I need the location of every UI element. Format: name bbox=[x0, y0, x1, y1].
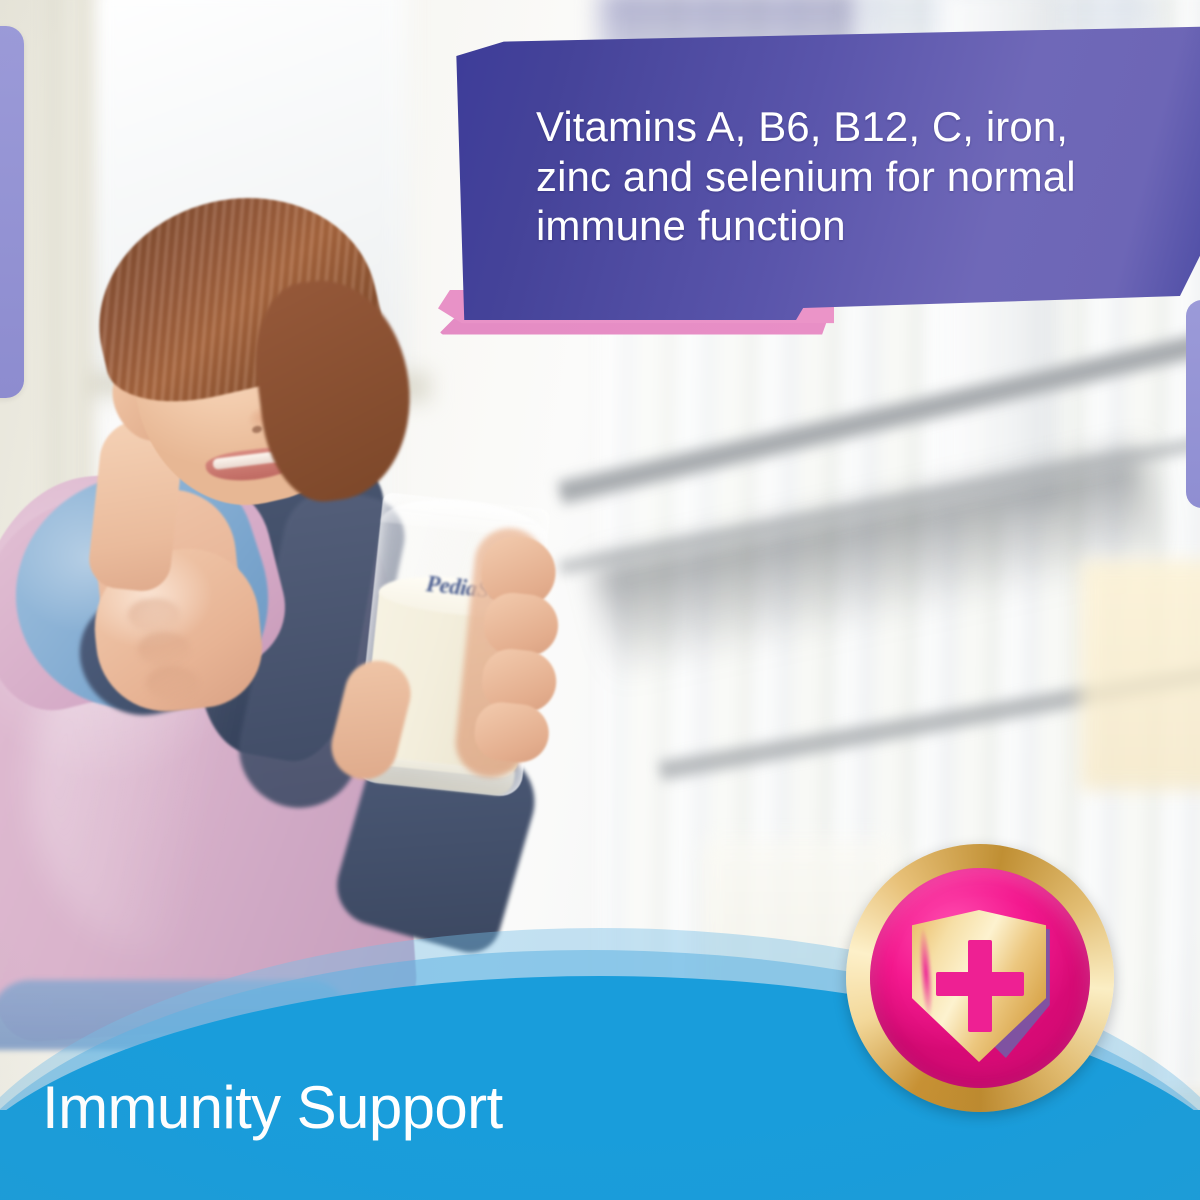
headline-banner: Vitamins A, B6, B12, C, iron, zinc and s… bbox=[420, 20, 1200, 350]
shelf-box-yellow bbox=[1080, 560, 1200, 790]
immunity-shield-badge bbox=[846, 844, 1114, 1112]
banner-line-1: Vitamins A, B6, B12, C, iron, bbox=[536, 102, 1156, 152]
knuckle-3 bbox=[146, 666, 198, 700]
knuckle-1 bbox=[128, 598, 180, 632]
knuckle-2 bbox=[138, 632, 190, 666]
banner-headline-text: Vitamins A, B6, B12, C, iron, zinc and s… bbox=[536, 102, 1156, 251]
plus-icon-horizontal bbox=[936, 972, 1024, 996]
immunity-support-promo-image: PediaSure Vitamins A, B6, B12, C, iron, … bbox=[0, 0, 1200, 1200]
decor-tab-left bbox=[0, 26, 24, 398]
banner-line-2: zinc and selenium for normal bbox=[536, 152, 1156, 202]
banner-line-3: immune function bbox=[536, 201, 1156, 251]
bottom-bar-title: Immunity Support bbox=[42, 1073, 503, 1142]
